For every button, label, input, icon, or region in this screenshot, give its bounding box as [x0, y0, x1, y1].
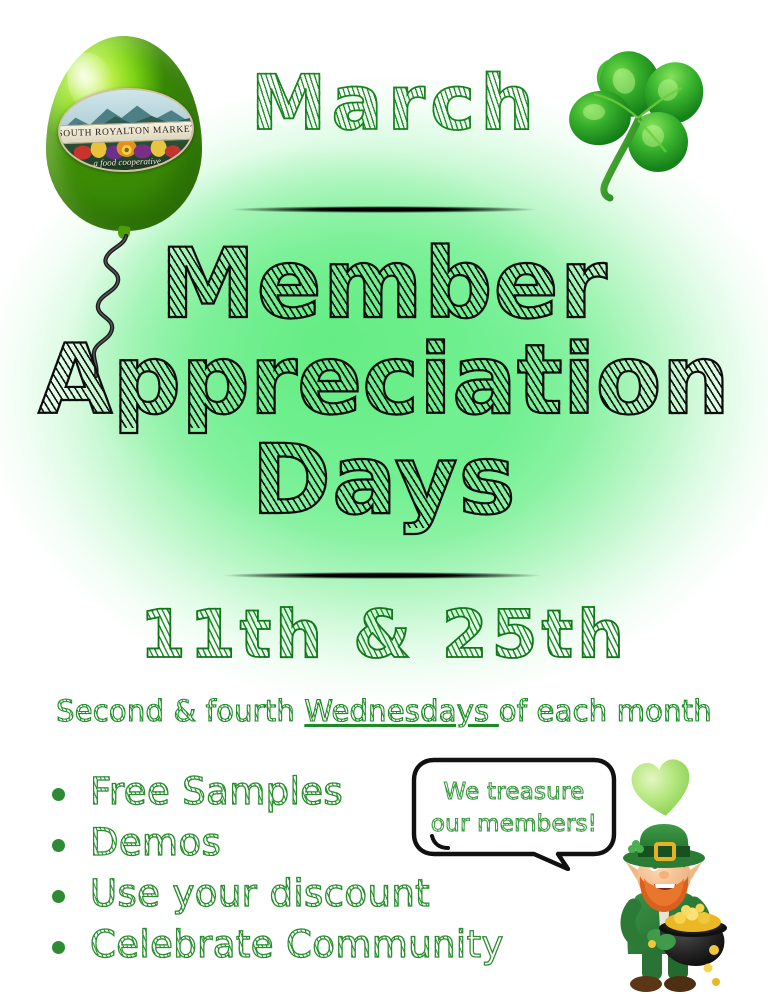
headline-line-1: Member	[0, 236, 768, 332]
month-title: March	[250, 58, 540, 147]
subtitle-before: Second & fourth	[56, 694, 304, 728]
list-item-label: Free Samples	[90, 770, 343, 813]
bullet-dot-icon	[52, 788, 65, 801]
list-item: Celebrate Community	[42, 919, 462, 970]
list-item-label: Demos	[90, 821, 221, 864]
bullet-dot-icon	[52, 839, 65, 852]
schedule-subtitle: Second & fourth Wednesdays of each month	[0, 694, 768, 728]
speech-line-2: our members!	[408, 808, 620, 840]
bullet-dot-icon	[52, 941, 65, 954]
heart-icon	[630, 758, 694, 820]
event-dates: 11th & 25th	[0, 596, 768, 673]
headline-line-3: Days	[0, 432, 768, 528]
poster-canvas: SOUTH ROYALTON MARKET a food cooperative…	[0, 0, 768, 994]
list-item: Demos	[42, 817, 462, 868]
list-item-label: Celebrate Community	[90, 923, 504, 966]
logo-banner-text: SOUTH ROYALTON MARKET	[57, 125, 195, 140]
bullet-dot-icon	[52, 890, 65, 903]
list-item-label: Use your discount	[90, 872, 430, 915]
divider-bottom	[222, 572, 542, 579]
list-item: Free Samples	[42, 766, 462, 817]
list-item: Use your discount	[42, 868, 462, 919]
speech-bubble-text: We treasure our members!	[408, 776, 620, 840]
leprechaun-with-pot-of-gold-icon	[596, 818, 746, 994]
subtitle-after: of each month	[499, 694, 712, 728]
benefits-list: Free Samples Demos Use your discount Cel…	[42, 766, 462, 970]
headline-line-2: Appreciation	[0, 332, 768, 428]
speech-line-1: We treasure	[408, 776, 620, 808]
coop-logo: SOUTH ROYALTON MARKET a food cooperative	[57, 86, 196, 175]
four-leaf-clover-icon	[558, 48, 736, 218]
speech-bubble: We treasure our members!	[408, 756, 620, 871]
divider-top	[230, 206, 538, 213]
subtitle-underlined: Wednesdays	[304, 694, 498, 728]
